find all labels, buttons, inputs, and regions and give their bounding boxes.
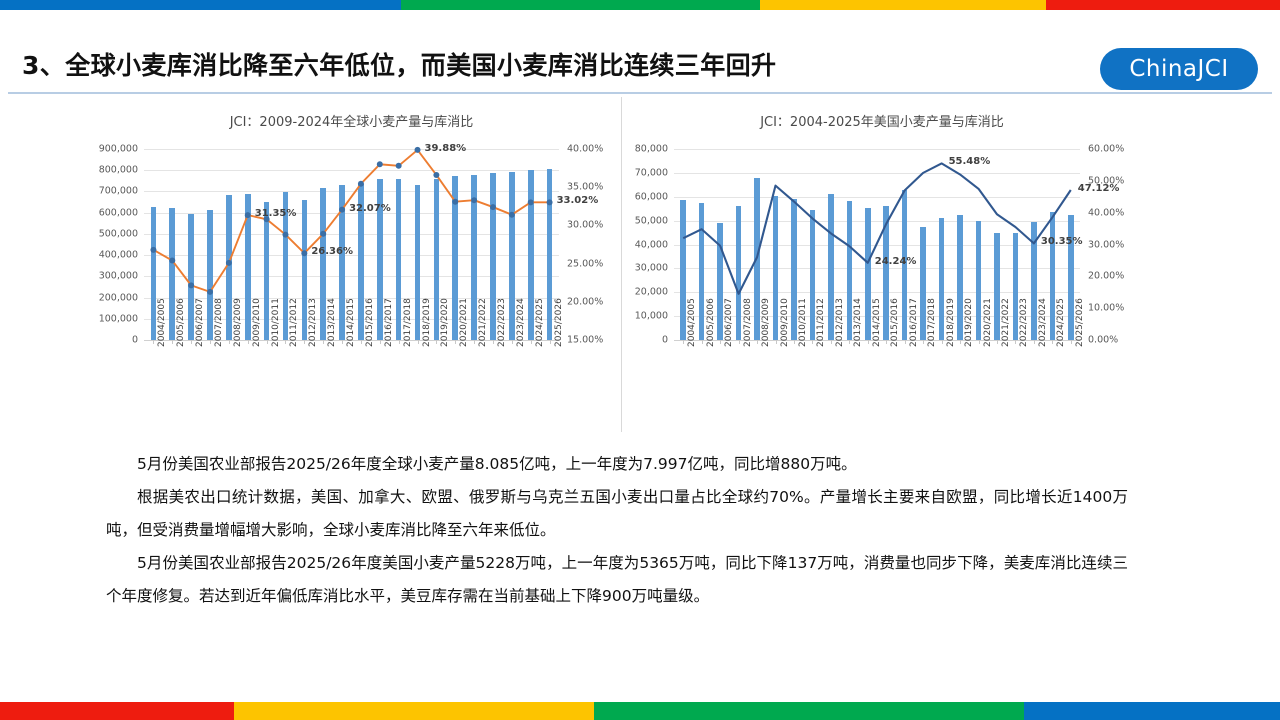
line-marker [320, 231, 326, 237]
trend-line [153, 150, 549, 292]
plot-area-us: 010,00020,00030,00040,00050,00060,00070,… [622, 141, 1142, 432]
chart-global-wheat: JCI：2009-2024年全球小麦产量与库消比 0100,000200,000… [82, 97, 622, 432]
chart-title-us: JCI：2004-2025年美国小麦产量与库消比 [622, 111, 1142, 130]
plot-area-global: 0100,000200,000300,000400,000500,000600,… [82, 141, 621, 432]
top-bar-segment-red [1046, 0, 1280, 10]
top-bar-segment-blue [0, 0, 401, 10]
bottom-bar-segment-green [594, 702, 1024, 720]
data-label-33.02: 33.02% [557, 195, 599, 206]
body-paragraph-2: 根据美农出口统计数据，美国、加拿大、欧盟、俄罗斯与乌克兰五国小麦出口量占比全球约… [106, 481, 1128, 547]
charts-container: JCI：2009-2024年全球小麦产量与库消比 0100,000200,000… [82, 97, 1142, 432]
line-marker [245, 212, 251, 218]
line-marker [377, 161, 383, 167]
line-marker [188, 282, 194, 288]
trend-line [683, 163, 1071, 293]
top-bar-segment-yellow [760, 0, 1045, 10]
logo-label: ChinaJCI [1129, 56, 1228, 82]
top-bar-segment-green [401, 0, 761, 10]
data-label-26.36: 26.36% [311, 246, 353, 257]
line-marker [282, 232, 288, 238]
line-series-overlay [82, 141, 621, 432]
bottom-bar-segment-red [0, 702, 234, 720]
line-marker [490, 204, 496, 210]
line-marker [452, 199, 458, 205]
top-color-bar [0, 0, 1280, 10]
line-marker [207, 289, 213, 295]
data-label-24.24: 24.24% [875, 256, 917, 267]
line-marker [471, 197, 477, 203]
chinajci-logo: ChinaJCI [1100, 48, 1258, 90]
data-label-32.07: 32.07% [349, 203, 391, 214]
data-label-30.35: 30.35% [1041, 236, 1083, 247]
line-marker [547, 199, 553, 205]
line-marker [528, 199, 534, 205]
chart-title-global: JCI：2009-2024年全球小麦产量与库消比 [82, 111, 621, 130]
line-marker [301, 250, 307, 256]
data-label-31.35: 31.35% [255, 208, 297, 219]
line-marker [150, 247, 156, 253]
line-marker [358, 181, 364, 187]
line-marker [509, 212, 515, 218]
bottom-color-bar [0, 702, 1280, 720]
line-marker [396, 163, 402, 169]
data-label-47.12: 47.12% [1078, 183, 1120, 194]
body-text: 5月份美国农业部报告2025/26年度全球小麦产量8.085亿吨，上一年度为7.… [106, 448, 1128, 613]
body-paragraph-1: 5月份美国农业部报告2025/26年度全球小麦产量8.085亿吨，上一年度为7.… [106, 448, 1128, 481]
line-series-overlay [622, 141, 1142, 432]
slide-header: 3、全球小麦库消比降至六年低位，而美国小麦库消比连续三年回升 ChinaJCI [0, 10, 1280, 88]
body-paragraph-3: 5月份美国农业部报告2025/26年度美国小麦产量5228万吨，上一年度为536… [106, 547, 1128, 613]
data-label-39.88: 39.88% [425, 143, 467, 154]
bottom-bar-segment-yellow [234, 702, 594, 720]
data-label-55.48: 55.48% [949, 156, 991, 167]
line-marker [415, 147, 421, 153]
line-marker [226, 260, 232, 266]
line-marker [339, 207, 345, 213]
line-marker [169, 258, 175, 264]
page-title: 3、全球小麦库消比降至六年低位，而美国小麦库消比连续三年回升 [22, 46, 776, 82]
header-divider [8, 92, 1272, 94]
chart-us-wheat: JCI：2004-2025年美国小麦产量与库消比 010,00020,00030… [622, 97, 1142, 432]
bottom-bar-segment-blue [1024, 702, 1280, 720]
line-marker [433, 172, 439, 178]
